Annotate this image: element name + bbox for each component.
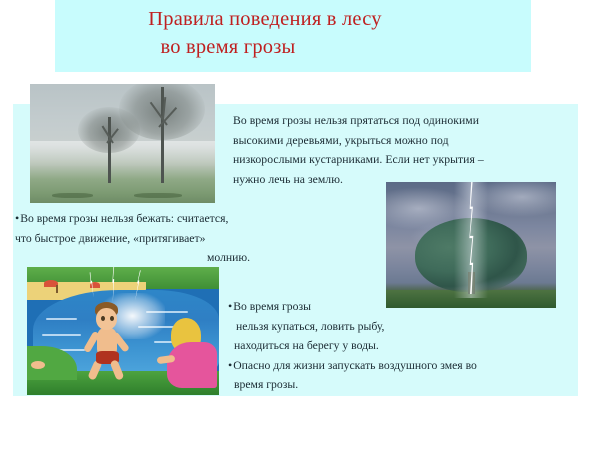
paragraph-line-bulleted: Во время грозы: [228, 297, 578, 317]
water-ripple: [42, 334, 80, 336]
rule-do-not-run: Во время грозы нельзя бежать: считается,…: [15, 209, 305, 268]
water-ripple: [46, 318, 77, 320]
slide-title-banner: Правила поведения в лесу во время грозы: [55, 0, 531, 72]
paragraph-line: низкорослыми кустарниками. Если нет укры…: [233, 150, 578, 170]
slide-title-line-1: Правила поведения в лесу: [55, 6, 475, 32]
cartoon-girl: [167, 318, 219, 390]
paragraph-line: что быстрое движение, «притягивает»: [15, 229, 305, 249]
rule-hiding-under-trees: Во время грозы нельзя прятаться под один…: [233, 111, 578, 189]
paragraph-line: Во время грозы нельзя прятаться под один…: [233, 111, 578, 131]
paragraph-line: молнию.: [15, 248, 305, 268]
photo-lightning-tree: [386, 182, 556, 308]
grass-tuft: [134, 193, 182, 198]
tree-trunk: [108, 117, 111, 183]
boy-eye: [110, 316, 114, 321]
grass-tuft: [52, 193, 93, 198]
paragraph-line-bulleted: Во время грозы нельзя бежать: считается,: [15, 209, 305, 229]
paragraph-line: время грозы.: [228, 375, 578, 395]
rule-water-and-kite: Во время грозы нельзя купаться, ловить р…: [228, 297, 578, 395]
paragraph-line-bulleted: Опасно для жизни запускать воздушного зм…: [228, 356, 578, 376]
girl-dress: [167, 342, 217, 388]
photo-misty-trees: [30, 84, 215, 203]
paragraph-line: высокими деревьями, укрыться можно под: [233, 131, 578, 151]
boy-eye: [101, 316, 105, 321]
slide-title-line-2: во время грозы: [55, 34, 401, 60]
paragraph-line: находиться на берегу у воды.: [228, 336, 578, 356]
paragraph-line: нельзя купаться, ловить рыбу,: [228, 317, 578, 337]
cartoon-boy: [87, 302, 147, 380]
photo-swimming-kids: [27, 267, 219, 395]
umbrella-pole: [56, 285, 58, 293]
bare-tree-large-icon: [126, 87, 198, 183]
boy-leg: [109, 359, 124, 381]
